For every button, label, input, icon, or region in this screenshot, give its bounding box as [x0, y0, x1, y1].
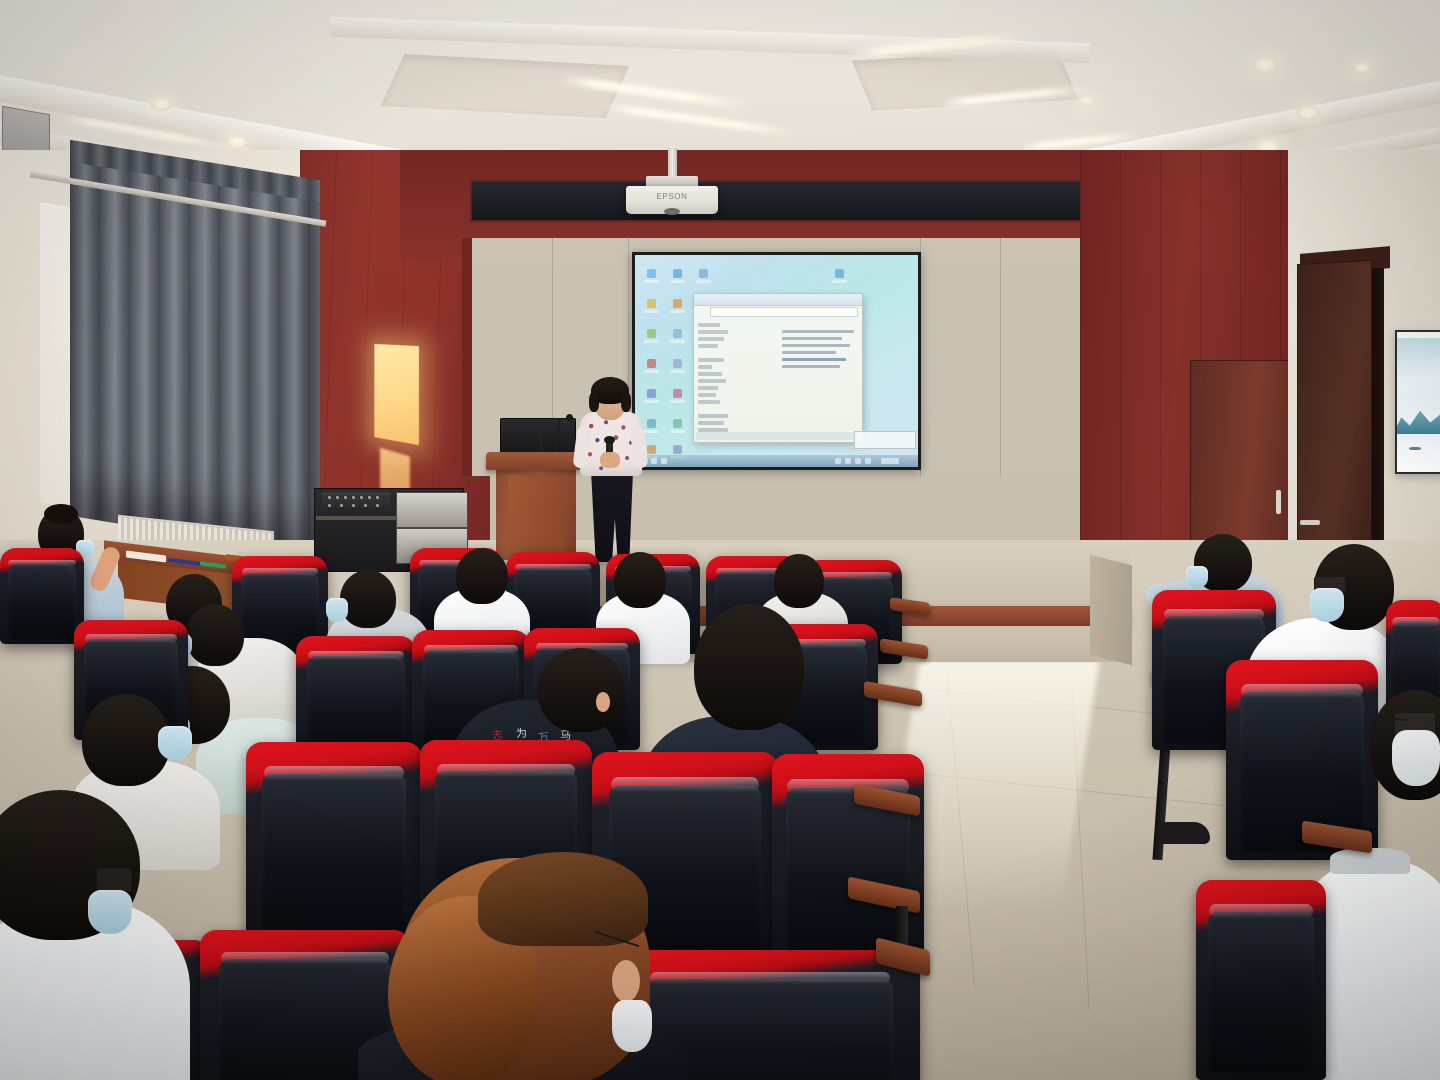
person-10-ear — [612, 960, 640, 1002]
window-address-bar — [710, 307, 858, 317]
person-11-shoe — [1158, 822, 1210, 844]
projection-screen — [632, 252, 921, 470]
presenter-hair-right — [621, 392, 631, 412]
downlight-7 — [1352, 62, 1372, 74]
desktop-icon — [647, 359, 656, 368]
person-bottomleft-glasses — [96, 868, 132, 892]
person-12-mask — [1310, 588, 1344, 622]
desktop-icon — [647, 329, 656, 338]
window-sidebar — [696, 320, 736, 438]
seat[interactable] — [0, 548, 84, 644]
window-status-bar — [696, 432, 857, 440]
presenter-microphone-head — [604, 436, 615, 444]
podium-front-panel — [508, 474, 564, 558]
presenter-hands — [600, 452, 620, 468]
desktop-icon — [673, 445, 682, 454]
person-11-mask — [1186, 566, 1208, 588]
desktop-icon — [673, 419, 682, 428]
person-6-head — [456, 548, 508, 604]
person-8-head — [538, 648, 624, 732]
framed-landscape-painting — [1395, 330, 1440, 474]
wall-panel-seam-4 — [1000, 238, 1001, 476]
desktop-icon — [647, 269, 656, 278]
stage-side-face — [1090, 555, 1132, 665]
desktop-icon — [699, 269, 708, 278]
desktop-icon — [673, 299, 682, 308]
audio-mixer[interactable] — [322, 492, 390, 514]
banner-panel — [470, 180, 1084, 222]
downlight-5 — [1296, 106, 1320, 120]
taskbar — [635, 455, 918, 467]
gooseneck-microphone-head — [566, 414, 573, 421]
person-bottomleft-mask — [88, 890, 132, 934]
desktop-icon — [647, 389, 656, 398]
downlight-8 — [1078, 96, 1096, 106]
projector-brand-label: EPSON — [626, 192, 718, 201]
desktop-icon — [673, 389, 682, 398]
downlight-1 — [150, 98, 172, 111]
person-4-head — [340, 570, 396, 628]
window-file-list — [782, 326, 858, 372]
seat[interactable] — [1196, 880, 1326, 1080]
cabinet-handle[interactable] — [1276, 490, 1281, 514]
podium-top — [486, 452, 586, 470]
person-left-mask-head — [82, 694, 170, 786]
person-10-mask — [612, 1000, 652, 1052]
downlight-4 — [1252, 58, 1278, 73]
person-4-mask — [326, 598, 348, 622]
notification-toast — [854, 431, 916, 449]
desktop-icon — [647, 299, 656, 308]
person-7-head — [614, 552, 666, 608]
door-handle[interactable] — [1300, 520, 1320, 525]
file-manager-window — [693, 293, 863, 443]
person-8-ear — [596, 692, 610, 712]
person-10-hair-top — [478, 852, 648, 946]
person-1-hair-bun — [44, 504, 78, 524]
desktop-icon — [673, 269, 682, 278]
conference-room-photo: EPSON — [0, 0, 1440, 1080]
window-titlebar — [694, 294, 862, 306]
desktop-icon — [673, 329, 682, 338]
curtain — [70, 146, 320, 556]
desktop-icon — [673, 359, 682, 368]
seat[interactable] — [246, 742, 422, 942]
person-row2-right-head — [774, 554, 824, 608]
projector-lens — [664, 208, 680, 215]
person-left-mask — [158, 726, 192, 760]
desktop-icon — [647, 445, 656, 454]
desktop-icon-right — [835, 269, 844, 278]
av-flight-case-upper — [396, 492, 468, 528]
sunlight-patch-on-wall — [374, 344, 419, 445]
desktop-icon — [647, 419, 656, 428]
person-9-head — [694, 604, 804, 730]
person-13-mask — [1392, 730, 1440, 786]
person-3-head — [186, 604, 244, 666]
presenter-hair-left — [589, 392, 599, 412]
presenter-trousers — [588, 468, 636, 562]
